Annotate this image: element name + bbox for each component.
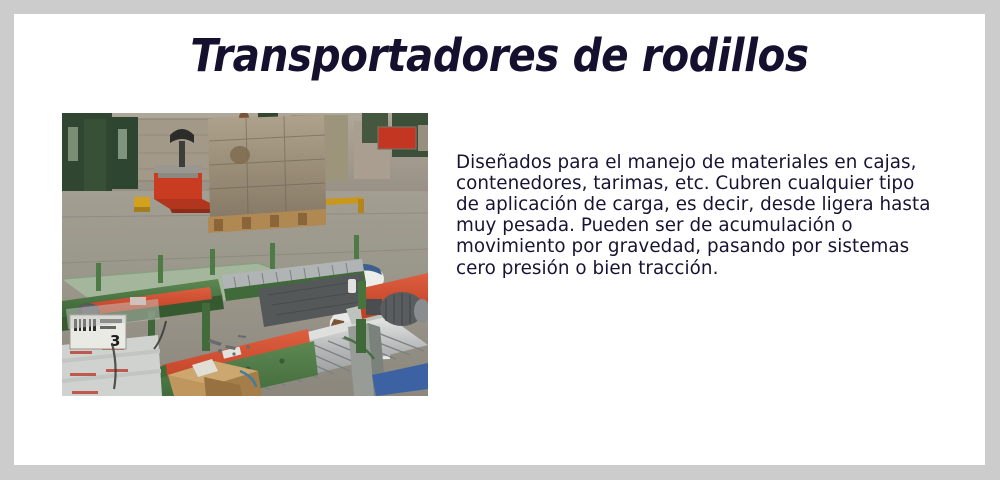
body-paragraph: Diseñados para el manejo de materiales e…	[456, 152, 941, 279]
slide-root: Transportadores de rodillos	[0, 0, 1000, 480]
conveyor-photo: 3	[62, 113, 428, 396]
page-title: Transportadores de rodillos	[63, 30, 937, 82]
conveyor-photo-image: 3	[62, 113, 428, 396]
slide-canvas: Transportadores de rodillos	[14, 14, 985, 465]
